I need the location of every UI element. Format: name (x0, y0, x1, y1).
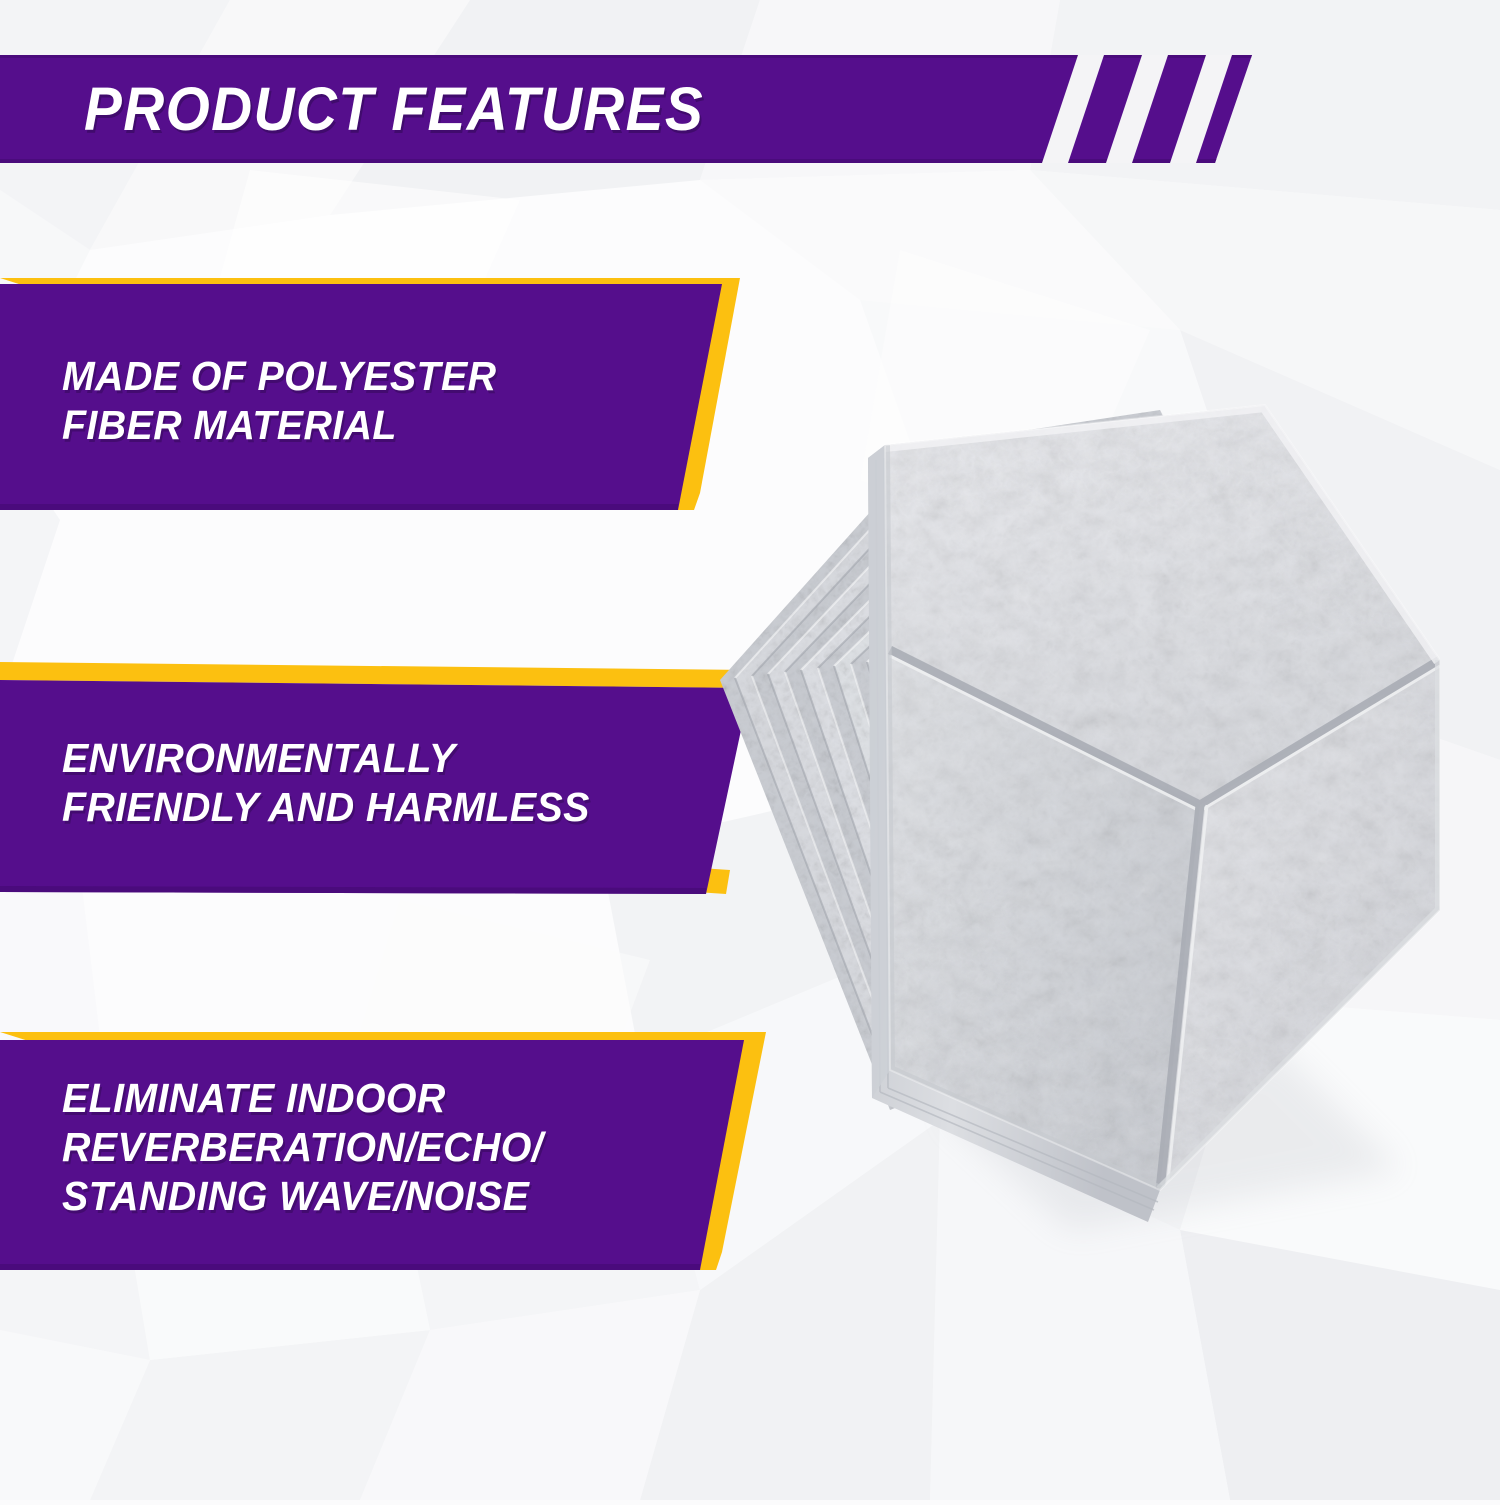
feature-card-1-text: MADE OF POLYESTER FIBER MATERIAL (62, 352, 496, 450)
feature-card-3-line-1: ELIMINATE INDOOR (62, 1074, 543, 1123)
feature-card-1-line-2: FIBER MATERIAL (62, 401, 496, 450)
feature-card-3-line-2: REVERBERATION/ECHO/ (62, 1123, 543, 1172)
feature-card-2-text: ENVIRONMENTALLY FRIENDLY AND HARMLESS (62, 734, 590, 832)
feature-card-1-line-1: MADE OF POLYESTER (62, 352, 496, 401)
feature-card-2-line-1: ENVIRONMENTALLY (62, 734, 590, 783)
feature-card-3-text: ELIMINATE INDOOR REVERBERATION/ECHO/ STA… (62, 1074, 543, 1222)
feature-card-2-line-2: FRIENDLY AND HARMLESS (62, 783, 590, 832)
feature-card-3-line-3: STANDING WAVE/NOISE (62, 1172, 543, 1221)
product-image-hexagonal-acoustic-panels (640, 350, 1440, 1280)
page-title: PRODUCT FEATURES (84, 55, 704, 163)
